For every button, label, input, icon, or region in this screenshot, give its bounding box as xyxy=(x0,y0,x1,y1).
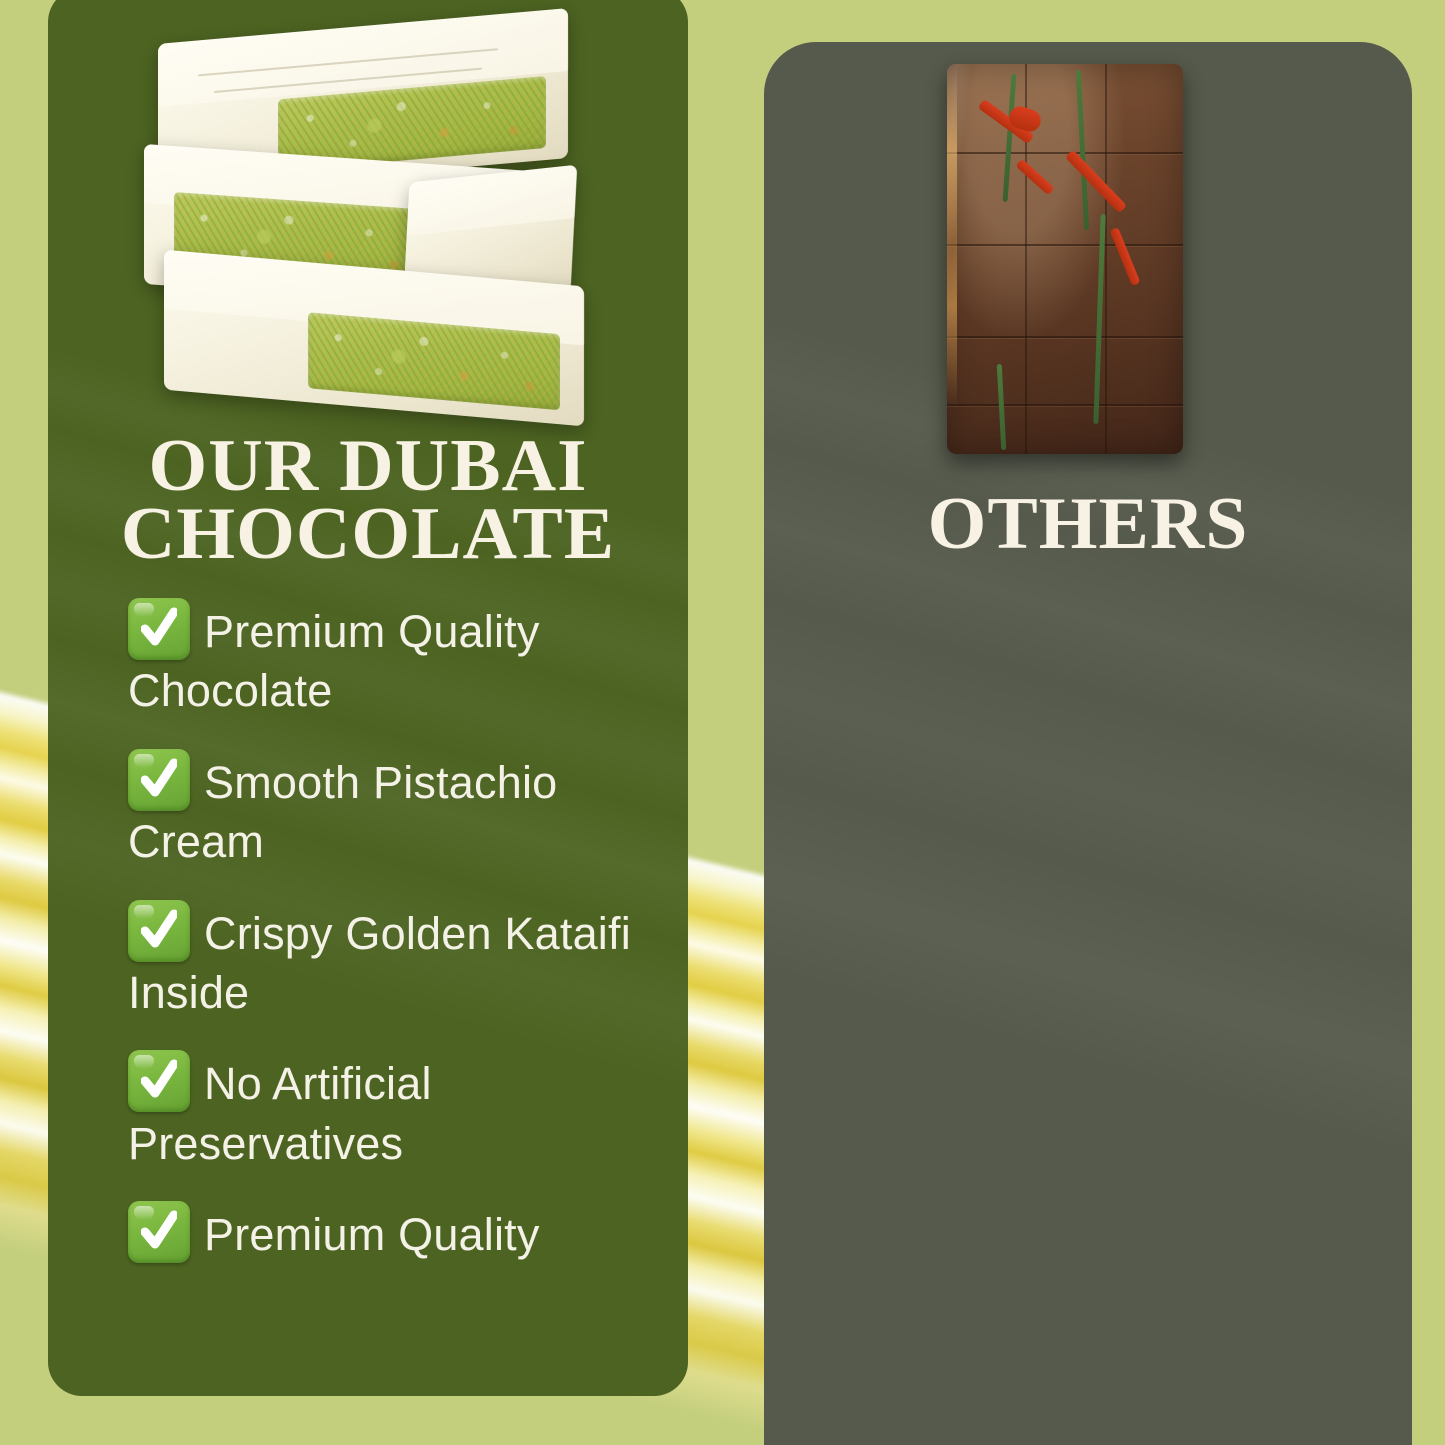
pistachio-chocolate-stack-image xyxy=(144,18,604,413)
list-item-label: Crispy Golden Kataifi Inside xyxy=(128,908,631,1018)
our-product-image-zone xyxy=(48,0,688,418)
check-mark-button-icon xyxy=(128,749,190,811)
check-mark-button-icon xyxy=(128,1050,190,1112)
list-item: Smooth Pistachio Cream xyxy=(128,749,668,872)
our-product-feature-list: Premium Quality Chocolate Smooth Pistach… xyxy=(128,598,668,1293)
list-item: Premium Quality Chocolate xyxy=(128,598,668,721)
our-product-title: OUR DUBAI CHOCOLATE xyxy=(48,432,688,568)
list-item-label: Smooth Pistachio Cream xyxy=(128,757,557,867)
check-mark-button-icon xyxy=(128,900,190,962)
list-item: Premium Quality xyxy=(128,1201,668,1264)
check-mark-button-icon xyxy=(128,1201,190,1263)
others-panel: OTHERS Basic Chocolate No Real Pistachio xyxy=(764,42,1412,1445)
plain-chocolate-bar-image xyxy=(947,64,1183,454)
check-mark-button-icon xyxy=(128,598,190,660)
our-product-title-line2: CHOCOLATE xyxy=(121,493,615,575)
list-item: Crispy Golden Kataifi Inside xyxy=(128,900,668,1023)
list-item-label: Premium Quality xyxy=(204,1209,540,1260)
our-product-panel: OUR DUBAI CHOCOLATE Premium Quality Choc… xyxy=(48,0,688,1396)
list-item: No Artificial Preservatives xyxy=(128,1050,668,1173)
comparison-infographic: OUR DUBAI CHOCOLATE Premium Quality Choc… xyxy=(0,0,1445,1445)
others-title: OTHERS xyxy=(764,490,1412,558)
others-product-image-zone xyxy=(764,42,1412,472)
